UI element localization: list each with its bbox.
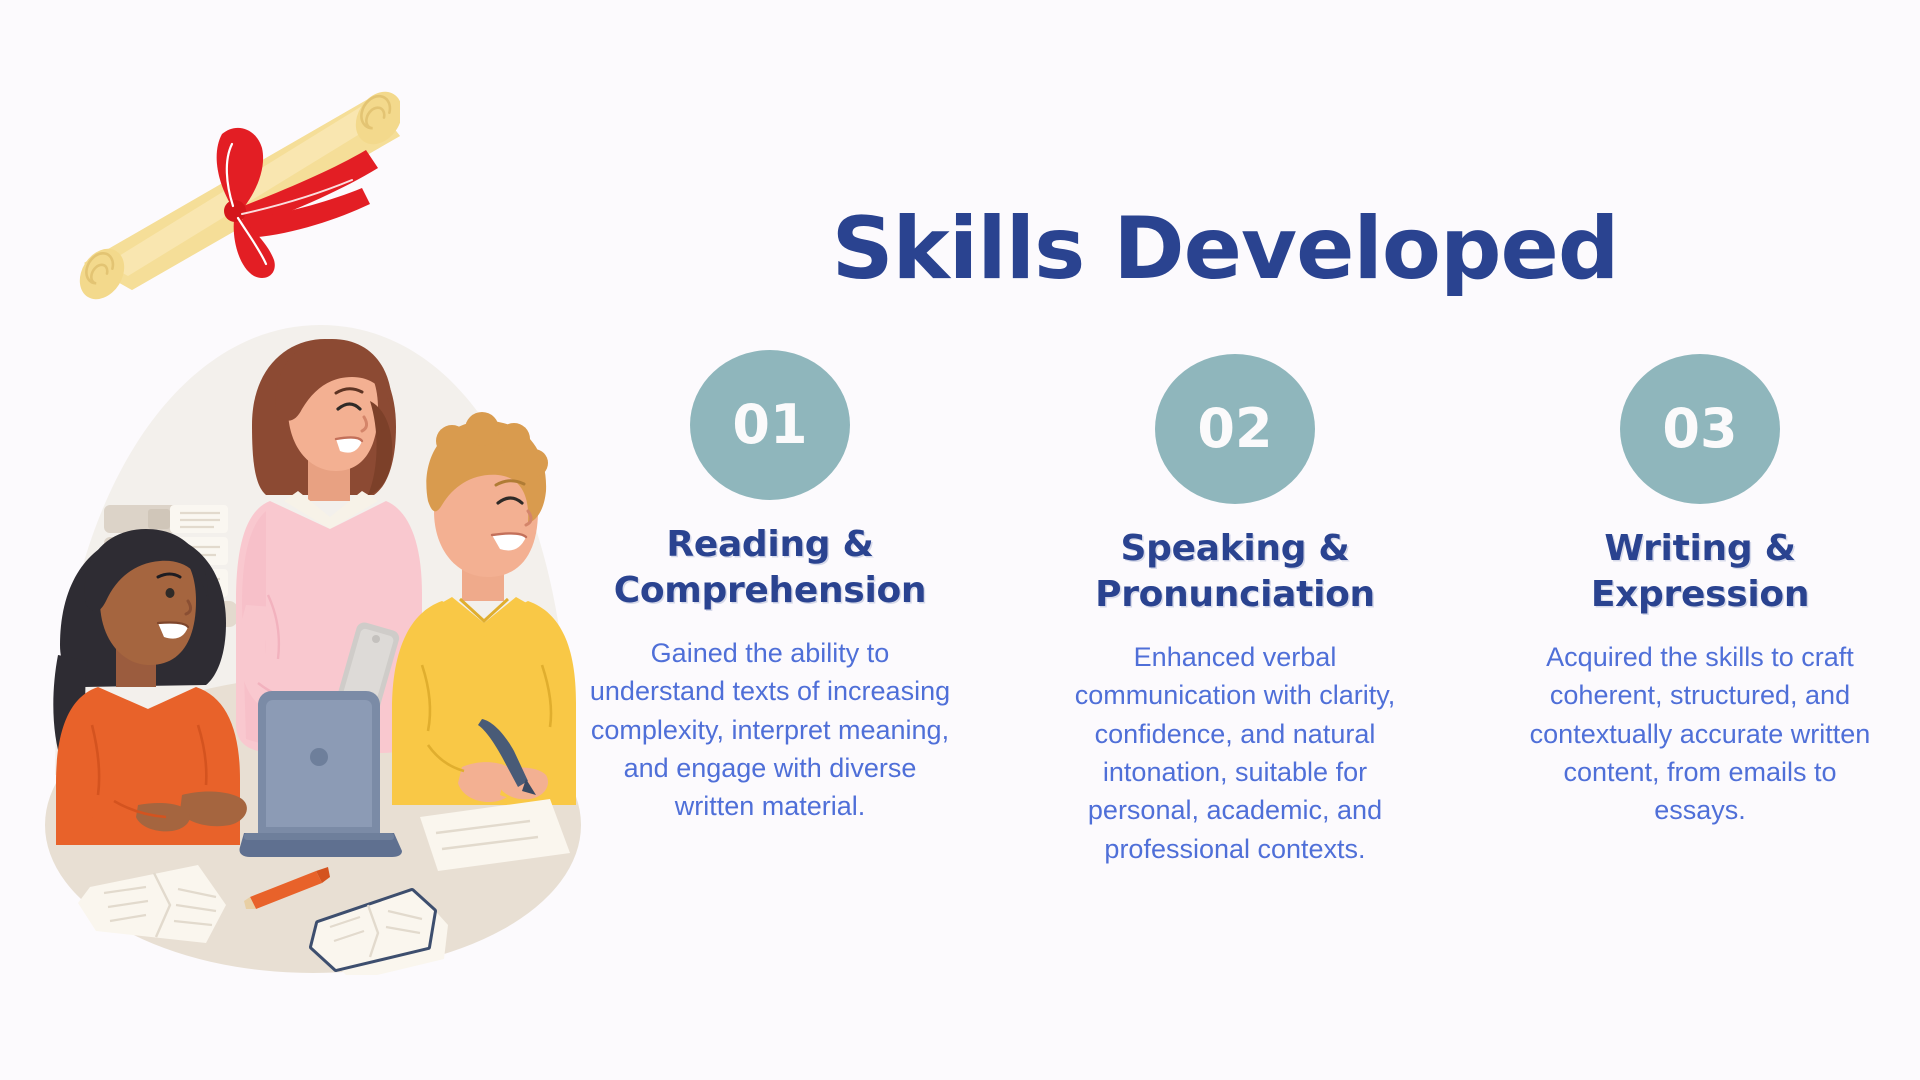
- skill-column-2: 02 Speaking & Pronunciation Enhanced ver…: [1035, 350, 1435, 868]
- badge-number-label: 01: [732, 398, 807, 452]
- badge-number-label: 02: [1197, 402, 1272, 456]
- students-scene: [30, 305, 600, 975]
- skill-badge-03: 03: [1620, 354, 1780, 504]
- skill-heading-2: Speaking & Pronunciation: [1045, 526, 1425, 618]
- skill-heading-1: Reading & Comprehension: [580, 522, 960, 614]
- skill-badge-02: 02: [1155, 354, 1315, 504]
- skill-column-1: 01 Reading & Comprehension Gained the ab…: [570, 350, 970, 826]
- page-title: Skills Developed: [760, 206, 1690, 292]
- skill-column-3: 03 Writing & Expression Acquired the ski…: [1500, 350, 1900, 830]
- skill-body-3: Acquired the skills to craft coherent, s…: [1515, 638, 1885, 830]
- skill-badge-01: 01: [690, 350, 850, 500]
- students-studying-illustration: [30, 305, 600, 975]
- skills-columns: 01 Reading & Comprehension Gained the ab…: [570, 350, 1900, 868]
- badge-number-label: 03: [1662, 402, 1737, 456]
- diploma-scroll-illustration: [70, 78, 400, 303]
- skill-body-2: Enhanced verbal communication with clari…: [1050, 638, 1420, 868]
- laptop: [239, 691, 402, 857]
- skill-body-1: Gained the ability to understand texts o…: [585, 634, 955, 826]
- diploma-scroll-icon: [70, 78, 400, 303]
- skill-heading-3: Writing & Expression: [1510, 526, 1890, 618]
